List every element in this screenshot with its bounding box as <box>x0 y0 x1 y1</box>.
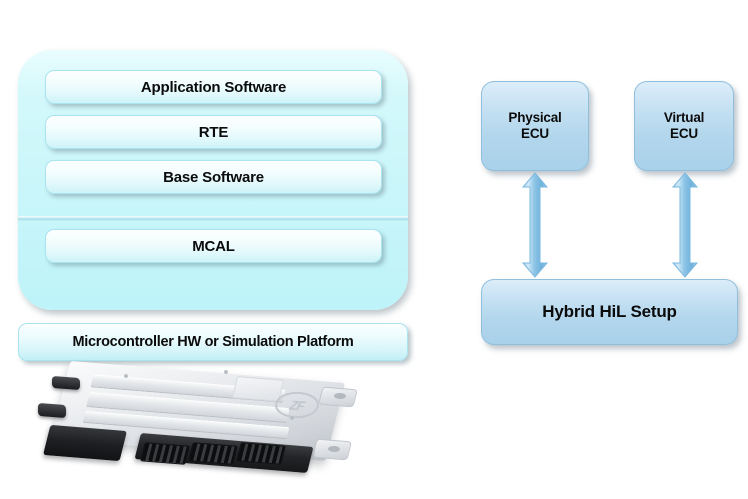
node-label-line2: ECU <box>670 126 698 141</box>
ecu-screw <box>290 416 294 420</box>
node-label-line1: Virtual <box>664 110 704 125</box>
ecu-hardware-photo: ZF <box>28 366 378 491</box>
layer-label: Application Software <box>141 79 286 96</box>
ecu-screw <box>224 370 228 374</box>
arrow-physical-to-hil-icon <box>521 172 549 278</box>
layer-box-base-software[interactable]: Base Software <box>45 160 382 194</box>
arrow-virtual-to-hil-icon <box>671 172 699 278</box>
layer-label: RTE <box>199 124 228 141</box>
platform-label: Microcontroller HW or Simulation Platfor… <box>73 334 354 350</box>
layer-label: MCAL <box>192 238 235 255</box>
layer-box-rte[interactable]: RTE <box>45 115 382 149</box>
platform-bar-microcontroller[interactable]: Microcontroller HW or Simulation Platfor… <box>18 323 408 361</box>
ecu-screw <box>124 374 128 378</box>
ecu-cable-gland <box>38 403 66 418</box>
node-label-line1: Physical <box>508 110 561 125</box>
ecu-pin-block <box>188 442 238 465</box>
layer-box-application-software[interactable]: Application Software <box>45 70 382 104</box>
node-label: Hybrid HiL Setup <box>542 302 676 322</box>
node-label-line2: ECU <box>521 126 549 141</box>
node-label: Physical ECU <box>508 110 561 142</box>
ecu-pin-block <box>236 442 286 465</box>
node-physical-ecu[interactable]: Physical ECU <box>481 81 589 171</box>
ecu-cable-gland <box>52 376 80 390</box>
layer-label: Base Software <box>163 169 264 186</box>
node-virtual-ecu[interactable]: Virtual ECU <box>634 81 734 171</box>
node-hybrid-hil-setup[interactable]: Hybrid HiL Setup <box>481 279 738 345</box>
node-label: Virtual ECU <box>664 110 704 142</box>
ecu-pin-block <box>140 442 190 465</box>
ecu-black-connector-header <box>43 425 127 461</box>
layer-box-mcal[interactable]: MCAL <box>45 229 382 263</box>
ecu-badge-plate <box>232 376 285 402</box>
stack-divider <box>18 216 408 219</box>
